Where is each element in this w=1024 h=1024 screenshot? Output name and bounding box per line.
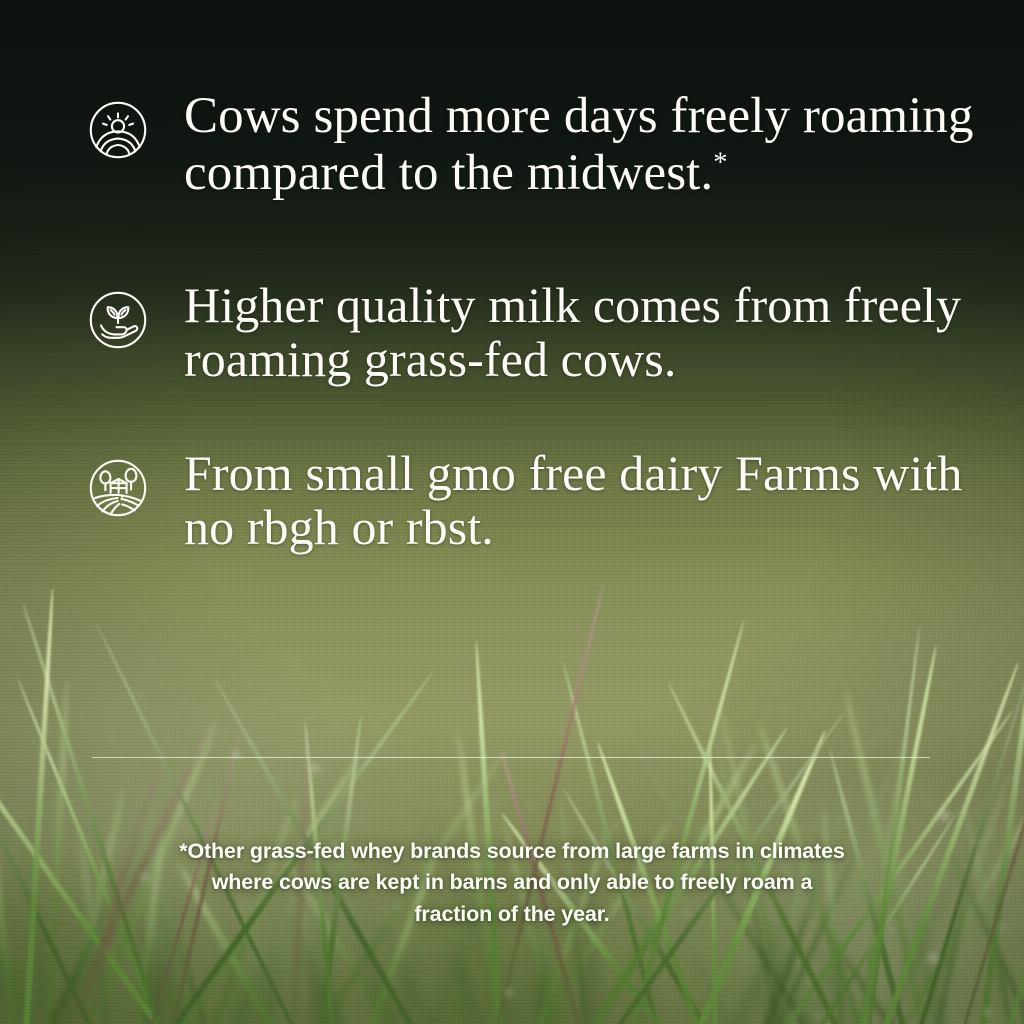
hand-holding-sprout-icon bbox=[88, 290, 148, 350]
promo-card: Cows spend more days freely roaming comp… bbox=[0, 0, 1024, 1024]
farm-barn-with-trees-icon bbox=[88, 458, 148, 518]
section-divider bbox=[92, 757, 930, 758]
benefit-text: From small gmo free dairy Farms with no … bbox=[184, 446, 988, 554]
card-content: Cows spend more days freely roaming comp… bbox=[0, 0, 1024, 1024]
footnote-marker: * bbox=[713, 147, 727, 178]
benefit-item-roaming-days: Cows spend more days freely roaming comp… bbox=[88, 88, 988, 202]
benefit-text: Higher quality milk comes from freely ro… bbox=[184, 278, 988, 386]
sunrise-over-field-icon bbox=[88, 100, 148, 160]
benefit-item-small-farms: From small gmo free dairy Farms with no … bbox=[88, 446, 988, 554]
benefit-text: Cows spend more days freely roaming comp… bbox=[184, 88, 988, 202]
benefit-item-milk-quality: Higher quality milk comes from freely ro… bbox=[88, 278, 988, 386]
benefits-list: Cows spend more days freely roaming comp… bbox=[88, 88, 988, 554]
footnote-disclaimer: *Other grass-fed whey brands source from… bbox=[176, 836, 848, 930]
